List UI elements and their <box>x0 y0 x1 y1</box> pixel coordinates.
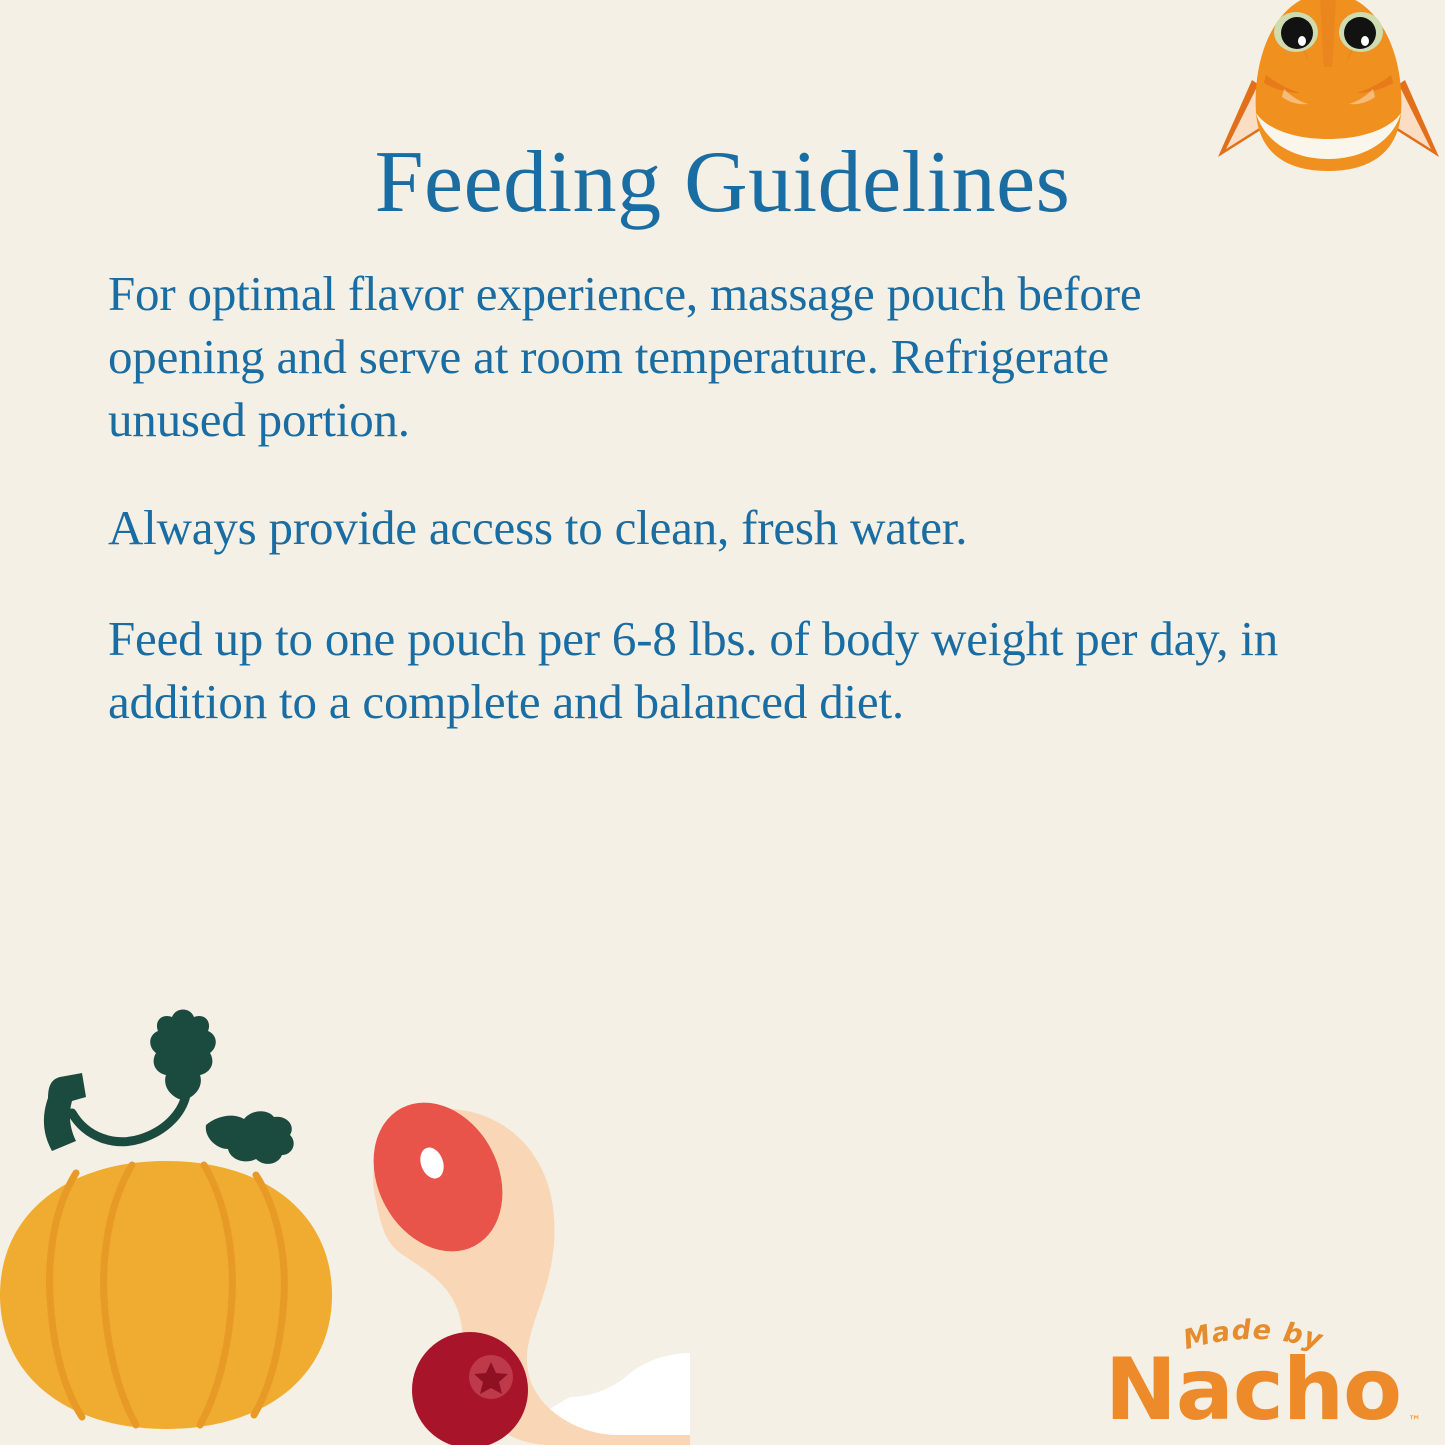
feeding-guidelines-panel: Feeding Guidelines For optimal flavor ex… <box>0 0 1445 1445</box>
instruction-paragraph-2: Always provide access to clean, fresh wa… <box>108 496 1288 559</box>
feeding-instructions: For optimal flavor experience, massage p… <box>108 262 1358 733</box>
cranberry-icon <box>412 1332 528 1445</box>
turkey-drumstick-icon <box>348 1080 690 1445</box>
logo-wordmark: Nacho <box>1083 1347 1423 1433</box>
instruction-paragraph-1: For optimal flavor experience, massage p… <box>108 262 1238 452</box>
food-illustration-group <box>0 1005 690 1445</box>
page-title: Feeding Guidelines <box>0 137 1445 229</box>
instruction-paragraph-3: Feed up to one pouch per 6-8 lbs. of bod… <box>108 607 1358 733</box>
pumpkin-icon <box>0 1010 332 1430</box>
brand-logo: Made by Nacho ™ <box>1083 1313 1423 1437</box>
logo-trademark: ™ <box>1408 1414 1421 1429</box>
